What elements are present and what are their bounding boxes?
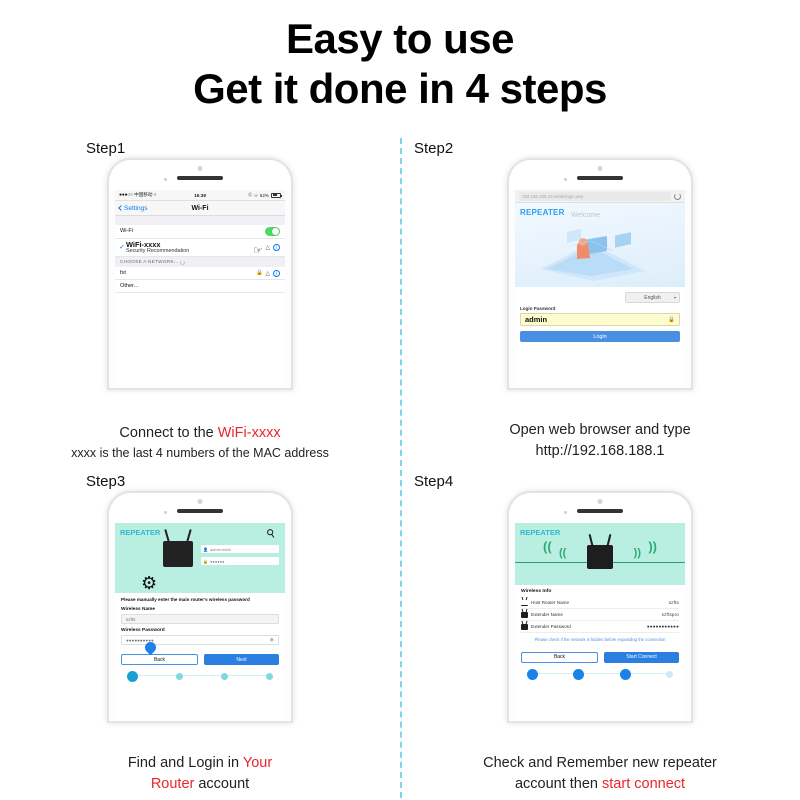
language-value: English [644,295,660,301]
page-title: Wi-Fi [115,205,285,212]
phone-top-bezel-4 [509,493,691,523]
front-camera-icon [198,499,203,504]
progress-dot-3[interactable] [620,669,631,680]
connect-button-row: Back Start Connect [521,652,679,663]
user-icon: 👤 [203,547,208,552]
wifi-toggle-label: Wi-Fi [120,228,133,234]
front-camera-icon [198,166,203,171]
login-password-label: Login Password [520,306,680,311]
url-input[interactable]: 192.168.188.1/mobile/login.asp [519,192,671,201]
step-3-caption: Find and Login in Your Router account [0,753,400,797]
headline-line-1: Easy to use [0,14,800,64]
volume-down-button[interactable] [507,250,509,264]
hand-cursor-icon: ☞ [253,244,263,257]
hidden-network-note: Please check if the network is hidden be… [523,637,677,643]
repeater-device-illustration [587,545,613,569]
infographic-page: Easy to use Get it done in 4 steps Step1 [0,0,800,800]
step-4-caption-line-2: account then start connect [400,774,800,796]
info-icon[interactable]: i [273,244,281,252]
router-icon [521,600,528,606]
phone-top-bezel-2 [509,160,691,190]
language-row: English ▾ [520,292,680,303]
start-connect-button[interactable]: Start Connect [604,652,679,663]
step-1-caption: Connect to the WiFi-xxxx xxxx is the las… [0,423,400,464]
info-row-value: szfts [669,600,679,605]
choose-network-label: CHOOSE A NETWORK... [120,260,178,265]
info-row-value: ●●●●●●●●●●● [647,624,679,629]
info-row-host-router: Host Router Name szfts [521,597,679,609]
credential-password-value: ●●●●●● [210,559,225,564]
signal-strength-icon: ●●●○○ [119,192,133,198]
isometric-illustration [533,229,653,283]
volume-down-button[interactable] [107,250,109,264]
signal-wave-right-inner-icon: )) [634,547,641,559]
step-4-caption: Check and Remember new repeater account … [400,753,800,797]
repeater-hero-connect: REPEATER (( (( )) )) [515,523,685,585]
earpiece-speaker [577,509,623,513]
alarm-icon: ☉ [254,193,258,198]
progress-dot-4[interactable] [266,673,273,680]
caption-highlight: start connect [602,776,685,792]
signal-wave-left-outer-icon: (( [543,539,552,554]
caption-highlight-2: Router [151,776,195,792]
info-row-value: szftspro [662,612,679,617]
headline: Easy to use Get it done in 4 steps [0,0,800,113]
step-1-phone-wrap: ●●●○○ 中国移动 ▿ 16:38 Ⓒ ☉ 52% [0,158,400,390]
volume-up-button[interactable] [107,230,109,244]
clock-label: 16:38 [194,193,206,198]
volume-up-button[interactable] [507,563,509,577]
extender-icon [521,624,528,630]
progress-dot-3[interactable] [221,673,228,680]
info-row-label: Extender Password [531,624,571,629]
other-label: Other... [120,283,138,289]
caption-highlight-1: Your [243,755,272,771]
phone-screen-1: ●●●○○ 中国移动 ▿ 16:38 Ⓒ ☉ 52% [115,190,285,388]
chevron-down-icon: ▾ [674,295,676,300]
form-hint: Please manually enter the main router's … [121,597,279,603]
signal-wave-right-outer-icon: )) [648,539,657,554]
wifi-signal-icon: △ [265,270,270,277]
earpiece-speaker [177,509,223,513]
front-camera-icon [598,166,603,171]
lock-icon: 🔒 [256,270,263,276]
wireless-info-panel: Wireless Info Host Router Name szfts Ext… [515,585,685,684]
selected-network-sub: Security Recommendation [126,249,189,255]
front-camera-icon [598,499,603,504]
router-credentials-form: Please manually enter the main router's … [115,593,285,686]
wifi-toggle-row[interactable]: Wi-Fi [115,225,285,239]
battery-icon [271,193,281,198]
proximity-sensor-icon [564,178,567,181]
phone-screen-4: REPEATER (( (( )) )) Wireless Info [515,523,685,721]
info-row-extender-password: Extender Password ●●●●●●●●●●● [521,621,679,633]
step-2-caption: Open web browser and type http://192.168… [400,420,800,464]
wifi-toggle-switch[interactable] [265,227,280,236]
step-1-label: Step1 [86,140,125,157]
phone-mockup-1: ●●●○○ 中国移动 ▿ 16:38 Ⓒ ☉ 52% [107,158,293,390]
selected-network-text: WiFi-xxxx Security Recommendation [126,241,189,255]
wireless-name-input[interactable]: szfts [121,614,279,624]
wifi-signal-icon: △ [265,244,270,251]
login-password-input[interactable]: admin 🔒 [520,313,680,326]
info-row-label: Host Router Name [531,600,569,605]
step-4-phone-wrap: REPEATER (( (( )) )) Wireless Info [400,491,800,723]
gear-icon: ⚙ [141,573,157,593]
selected-network-icons: △ i [265,244,280,252]
ios-nav-bar: Settings Wi-Fi [115,201,285,216]
phone-mockup-3: REPEATER ⚲ 👤 admin:#### 🔒 ●●●●●● [107,491,293,723]
info-icon[interactable]: i [273,270,281,278]
step-progress-dots [521,669,679,680]
phone-mockup-4: REPEATER (( (( )) )) Wireless Info [507,491,693,723]
signal-wave-left-inner-icon: (( [559,547,566,559]
next-button[interactable]: Next [204,654,279,665]
wireless-name-label: Wireless Name [121,607,279,612]
phone-mockup-2: 192.168.188.1/mobile/login.asp REPEATER … [507,158,693,390]
step-1-caption-line-2: xxxx is the last 4 numbers of the MAC ad… [0,444,400,463]
form-button-row: Back Next [121,654,279,665]
login-button[interactable]: Login [520,331,680,342]
choose-network-header: CHOOSE A NETWORK... [115,257,285,267]
language-select[interactable]: English ▾ [625,292,680,303]
login-form: English ▾ Login Password admin 🔒 Login [515,287,685,347]
earpiece-speaker [177,176,223,180]
headline-line-2: Get it done in 4 steps [0,64,800,114]
caption-highlight: WiFi-xxxx [218,425,281,441]
volume-up-button[interactable] [507,230,509,244]
steps-grid: Step1 ●●●○○ 中国移动 [0,134,800,800]
network-row-fst[interactable]: fst 🔒 △ i [115,267,285,280]
back-button[interactable]: Back [121,654,198,665]
step-2-phone-wrap: 192.168.188.1/mobile/login.asp REPEATER … [400,158,800,390]
rotation-lock-icon: Ⓒ [248,192,252,198]
caption-prefix: Connect to the [119,425,217,441]
phone-screen-2: 192.168.188.1/mobile/login.asp REPEATER … [515,190,685,388]
repeater-brand-label: REPEATER [520,208,565,217]
step-3-caption-line-2: Router account [0,774,400,796]
progress-dot-2[interactable] [573,669,584,680]
info-row-label: Extender Name [531,612,563,617]
network-name-label: fst [120,270,126,276]
credential-username-value: admin:#### [210,547,231,552]
progress-dot-2[interactable] [176,673,183,680]
info-row-extender-name: Extender Name szftspro [521,609,679,621]
step-3-label: Step3 [86,473,125,490]
volume-down-button[interactable] [107,583,109,597]
carrier-label: 中国移动 [134,192,152,198]
step-1-cell: Step1 ●●●○○ 中国移动 [0,134,400,467]
repeater-hero-green: REPEATER ⚲ 👤 admin:#### 🔒 ●●●●●● [115,523,285,593]
key-icon: ⚲ [264,526,278,541]
login-password-value: admin [525,315,547,324]
step-4-label: Step4 [414,473,453,490]
ios-section-gap [115,216,285,225]
earpiece-speaker [577,176,623,180]
repeater-brand-label: REPEATER [120,528,160,537]
reload-icon[interactable] [674,193,681,200]
step-4-caption-line-1: Check and Remember new repeater [400,753,800,775]
step-progress-dots [121,671,279,682]
step-3-cell: Step3 REPEATER ⚲ [0,467,400,800]
repeater-brand-label: REPEATER [520,528,560,537]
caption-prefix: Find and Login in [128,755,243,771]
phone-top-bezel-1 [109,160,291,190]
phone-screen-3: REPEATER ⚲ 👤 admin:#### 🔒 ●●●●●● [115,523,285,721]
selected-network-row[interactable]: ✓ WiFi-xxxx Security Recommendation △ i … [115,239,285,258]
proximity-sensor-icon [164,178,167,181]
wireless-password-label: Wireless Password [121,628,279,633]
caption-prefix: account then [515,776,602,792]
wireless-info-title: Wireless Info [521,589,679,594]
battery-percent-label: 52% [260,193,269,198]
welcome-label: Welcome [571,212,600,219]
loading-spinner-icon [180,260,185,265]
credential-username-field: 👤 admin:#### [201,545,279,553]
browser-url-bar: 192.168.188.1/mobile/login.asp [515,190,685,203]
ios-status-bar: ●●●○○ 中国移动 ▿ 16:38 Ⓒ ☉ 52% [115,190,285,201]
step-4-cell: Step4 REPEATER (( ( [400,467,800,800]
progress-dot-1[interactable] [527,669,538,680]
eye-icon[interactable]: ◉ [270,637,274,643]
extender-icon [521,612,528,618]
credential-password-field: 🔒 ●●●●●● [201,557,279,565]
repeater-hero-banner: REPEATER Welcome [515,203,685,287]
lock-icon: 🔒 [668,317,675,323]
step-3-phone-wrap: REPEATER ⚲ 👤 admin:#### 🔒 ●●●●●● [0,491,400,723]
progress-dot-1[interactable] [127,671,138,682]
step-2-caption-line-1: Open web browser and type [400,420,800,442]
back-button[interactable]: Back [521,652,598,663]
lock-icon: 🔒 [203,559,208,564]
step-2-cell: Step2 192.168.188.1/mobile/login.asp [400,134,800,467]
step-2-label: Step2 [414,140,453,157]
caption-suffix: account [194,776,249,792]
proximity-sensor-icon [164,511,167,514]
checkmark-icon: ✓ [118,243,126,251]
volume-down-button[interactable] [507,583,509,597]
progress-track [531,673,669,674]
progress-dot-4[interactable] [666,671,673,678]
step-1-caption-line-1: Connect to the WiFi-xxxx [0,423,400,445]
other-network-row[interactable]: Other... [115,280,285,293]
network-row-icons: 🔒 △ i [256,270,280,278]
progress-track [131,675,269,676]
list-bottom-filler [115,293,285,305]
step-3-caption-line-1: Find and Login in Your [0,753,400,775]
step-2-caption-line-2: http://192.168.188.1 [400,441,800,463]
wifi-icon: ▿ [154,192,156,198]
phone-top-bezel-3 [109,493,291,523]
repeater-device-illustration [163,541,193,567]
volume-up-button[interactable] [107,563,109,577]
proximity-sensor-icon [564,511,567,514]
